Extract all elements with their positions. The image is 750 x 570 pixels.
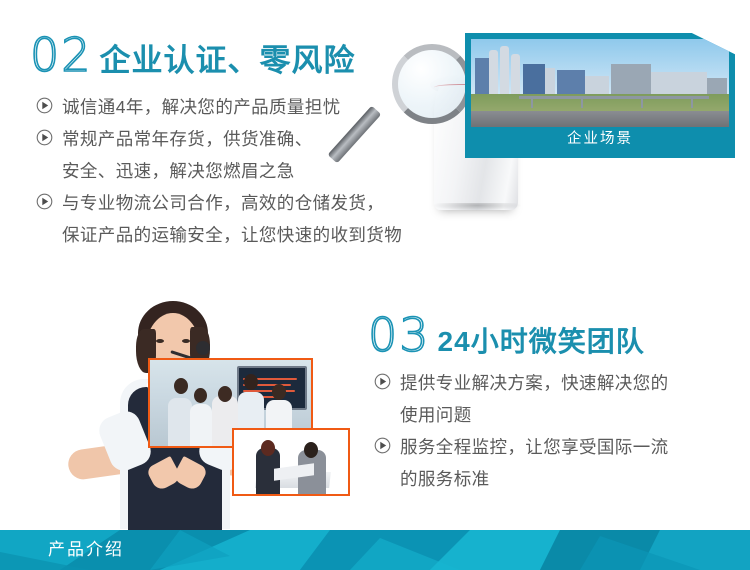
building [523, 64, 545, 94]
play-circle-icon [374, 373, 391, 390]
building [651, 72, 707, 94]
bag-shadow [432, 203, 522, 211]
list-item: 提供专业解决方案，快速解决您的 [374, 368, 734, 398]
section-02-title: 企业认证、零风险 [100, 45, 356, 76]
section-03-bullet-list: 提供专业解决方案，快速解决您的 使用问题 服务全程监控，让您享受国际一流 的服务… [374, 368, 734, 496]
person [190, 404, 212, 446]
pipeline [519, 96, 709, 99]
section-02-heading: 02 企业认证、零风险 [30, 32, 356, 78]
play-circle-icon [36, 97, 53, 114]
play-circle-icon [36, 129, 53, 146]
silo [500, 46, 509, 94]
factory-photo-caption: 企业场景 [471, 127, 729, 152]
building [557, 70, 585, 94]
section-03-number: 03 [368, 312, 431, 358]
person-head [261, 440, 275, 456]
pipe-support [531, 96, 533, 108]
pipe-support [581, 96, 583, 108]
list-item-continuation: 保证产品的运输安全，让您快速的收到货物 [36, 220, 456, 250]
silo [511, 54, 520, 94]
section-03-title: 24小时微笑团队 [438, 328, 645, 356]
list-item-label: 服务全程监控，让您享受国际一流 [400, 432, 669, 462]
section-02-number: 02 [30, 32, 93, 78]
building [545, 68, 555, 94]
list-item-label-line2: 保证产品的运输安全，让您快速的收到货物 [62, 220, 402, 250]
silo [489, 50, 498, 94]
list-item-label: 与专业物流公司合作，高效的仓储发货， [62, 188, 384, 218]
pipe-support [641, 96, 643, 108]
bottom-section-banner: 产品介绍 [0, 530, 750, 570]
list-item-label: 常规产品常年存货，供货准确、 [62, 124, 313, 154]
list-item-label-line2: 使用问题 [400, 400, 472, 430]
eye-left [156, 339, 164, 343]
building [475, 58, 489, 94]
list-item: 服务全程监控，让您享受国际一流 [374, 432, 734, 462]
list-item-label-line2: 的服务标准 [400, 464, 490, 494]
building [611, 64, 651, 94]
play-circle-icon [36, 193, 53, 210]
person-head [244, 374, 258, 390]
eye-right [182, 339, 190, 343]
pipe-support [691, 96, 693, 108]
section-03-heading: 03 24小时微笑团队 [368, 312, 645, 358]
list-item-label: 诚信通4年，解决您的产品质量担忧 [62, 92, 341, 122]
building [585, 76, 609, 94]
photo-road [471, 111, 729, 127]
play-circle-icon [374, 437, 391, 454]
magnifier-icon [392, 44, 472, 124]
person-head [272, 384, 286, 400]
bottom-banner-label: 产品介绍 [48, 530, 124, 570]
list-item-label: 提供专业解决方案，快速解决您的 [400, 368, 669, 398]
person [168, 398, 192, 446]
factory-photo [471, 39, 729, 127]
person-head [174, 378, 188, 394]
person-head [194, 388, 207, 403]
factory-photo-card: 企业场景 [465, 33, 735, 158]
headset-icon [196, 341, 210, 355]
building [707, 78, 727, 94]
list-item-continuation: 使用问题 [374, 400, 734, 430]
list-item-label-line2: 安全、迅速，解决您燃眉之急 [62, 156, 295, 186]
product-detail-page: 02 企业认证、零风险 诚信通4年，解决您的产品质量担忧 常规产品常年存货，供货… [0, 0, 750, 570]
person-head [218, 386, 232, 402]
team-photo-service [232, 428, 350, 496]
list-item-continuation: 的服务标准 [374, 464, 734, 494]
person-head [304, 442, 318, 458]
